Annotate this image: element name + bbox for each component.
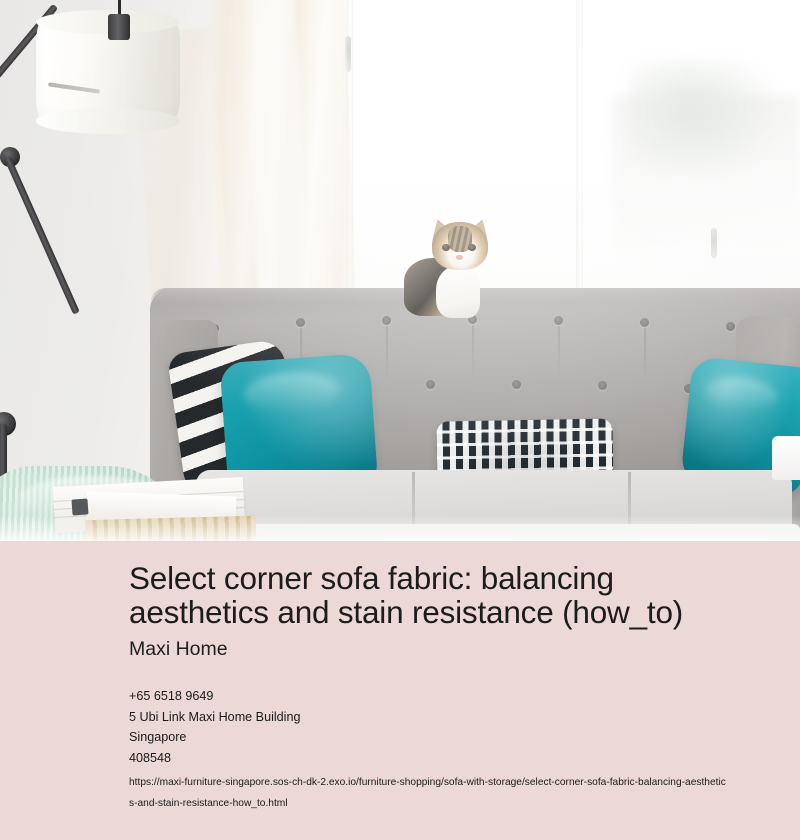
- cushion-sheen: [242, 369, 341, 416]
- sofa-crease: [644, 328, 646, 384]
- small-book: [71, 498, 88, 515]
- sofa-tuft: [554, 316, 563, 325]
- contact-country: Singapore: [129, 727, 743, 748]
- info-panel: Select corner sofa fabric: balancing aes…: [0, 541, 800, 840]
- cushion-sheen: [704, 374, 779, 415]
- page-title: Select corner sofa fabric: balancing aes…: [129, 541, 743, 629]
- window-pane-shadow: [612, 96, 800, 246]
- hero-image: [0, 0, 800, 541]
- contact-postal-code: 408548: [129, 748, 743, 769]
- lamp-socket: [108, 14, 130, 40]
- sofa-seat-front-edge: [190, 524, 800, 541]
- cat-icon: [404, 222, 490, 314]
- contact-block: +65 6518 9649 5 Ubi Link Maxi Home Build…: [129, 661, 743, 814]
- hero-scene: [0, 0, 800, 541]
- cat-eye: [442, 244, 450, 251]
- cat-eye: [468, 244, 476, 251]
- sofa-tuft: [640, 318, 649, 327]
- white-object: [772, 436, 800, 480]
- cat-nose: [456, 255, 463, 260]
- window-latch-icon: [711, 228, 717, 258]
- contact-address: 5 Ubi Link Maxi Home Building: [129, 707, 743, 728]
- sofa-tuft: [598, 381, 607, 390]
- sofa-tuft: [296, 318, 305, 327]
- sofa-tuft: [382, 316, 391, 325]
- page-root: Select corner sofa fabric: balancing aes…: [0, 0, 800, 840]
- sofa-tuft: [726, 322, 735, 331]
- contact-phone[interactable]: +65 6518 9649: [129, 686, 743, 707]
- window-mullion: [576, 0, 583, 330]
- woven-basket: [86, 516, 257, 541]
- sofa-crease: [558, 326, 560, 380]
- info-panel-content: Select corner sofa fabric: balancing aes…: [129, 541, 743, 814]
- cat-chest: [436, 266, 480, 318]
- sofa-crease: [386, 326, 388, 380]
- article-url[interactable]: https://maxi-furniture-singapore.sos-ch-…: [129, 768, 729, 814]
- sofa-tuft: [512, 380, 521, 389]
- sofa-tuft: [426, 380, 435, 389]
- brand-name: Maxi Home: [129, 629, 743, 661]
- sofa-crease: [472, 325, 474, 380]
